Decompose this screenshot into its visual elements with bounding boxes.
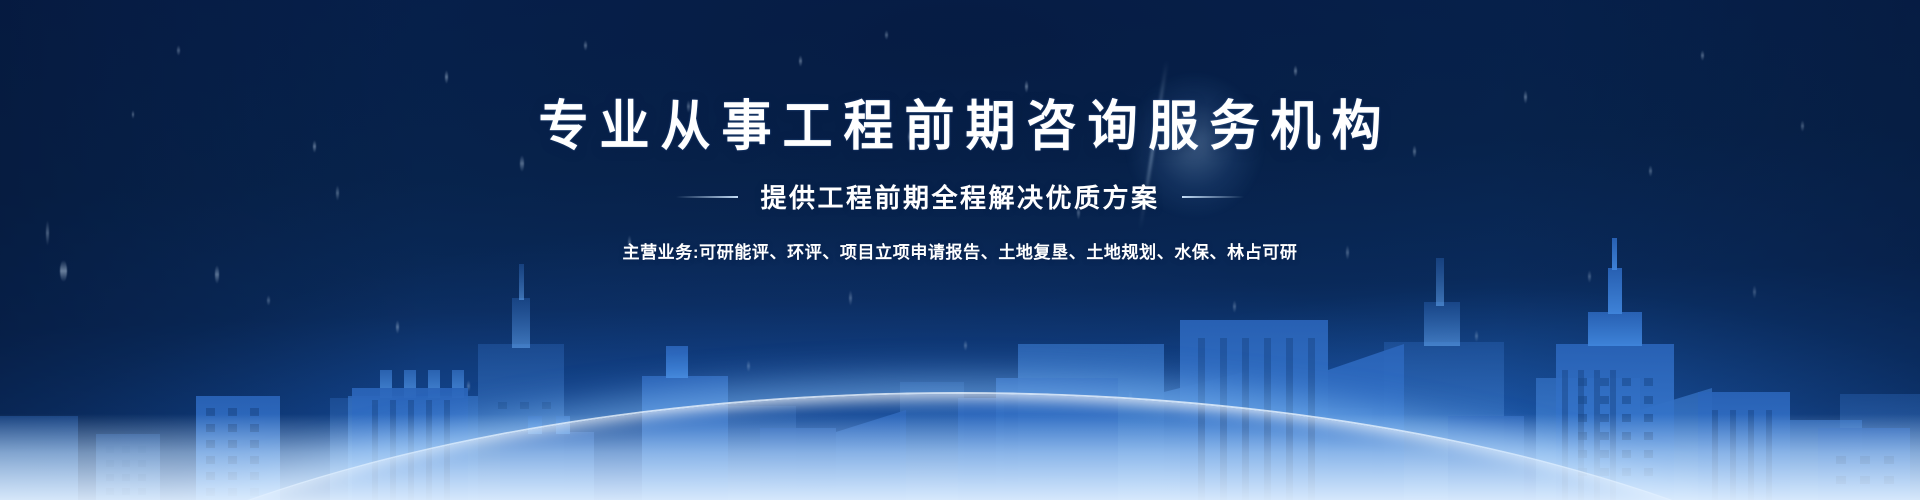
hero-banner: 专业从事工程前期咨询服务机构 提供工程前期全程解决优质方案 主营业务:可研能评、… bbox=[0, 0, 1920, 500]
banner-subtitle: 提供工程前期全程解决优质方案 bbox=[760, 178, 1159, 215]
bottom-light-fade bbox=[0, 414, 1920, 500]
subtitle-dash-left bbox=[676, 196, 738, 198]
banner-headline: 专业从事工程前期咨询服务机构 bbox=[0, 94, 1920, 160]
banner-services-line: 主营业务:可研能评、环评、项目立项申请报告、土地复垦、土地规划、水保、林占可研 bbox=[0, 238, 1920, 263]
subtitle-dash-right bbox=[1182, 196, 1244, 198]
banner-text-block: 专业从事工程前期咨询服务机构 提供工程前期全程解决优质方案 主营业务:可研能评、… bbox=[0, 96, 1920, 263]
banner-subtitle-row: 提供工程前期全程解决优质方案 bbox=[0, 178, 1920, 215]
